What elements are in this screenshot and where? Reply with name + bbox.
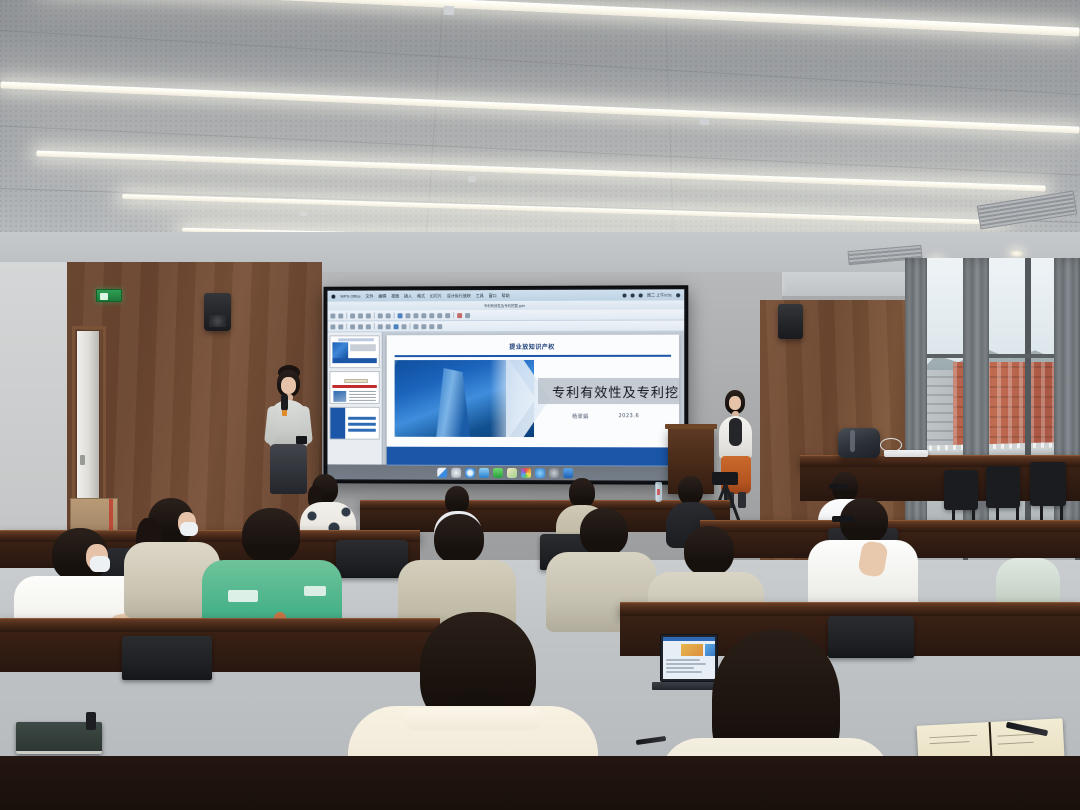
- stacking-chair[interactable]: [1030, 462, 1066, 506]
- shape-fill-icon[interactable]: [398, 313, 403, 318]
- highlight-icon[interactable]: [402, 324, 407, 329]
- attendee-row2-white-tee: [808, 498, 918, 610]
- control-center-icon[interactable]: [676, 293, 680, 297]
- safari-icon[interactable]: [465, 467, 475, 477]
- slide-main-title: 专利有效性及专利挖掘: [538, 378, 679, 404]
- paste-icon[interactable]: [366, 313, 371, 318]
- conference-room-photo: WPS Office 文件 编辑 视图 插入 格式 幻灯片 设计执行放映 工具 …: [0, 0, 1080, 810]
- door-handle[interactable]: [80, 455, 85, 465]
- mail-icon[interactable]: [479, 467, 489, 477]
- macos-dock[interactable]: [327, 464, 684, 480]
- wall-speaker-right: [778, 304, 803, 339]
- exit-sign: [96, 289, 122, 302]
- wps-icon[interactable]: [563, 468, 573, 478]
- menu-edit[interactable]: 编辑: [378, 293, 386, 299]
- stacking-chair[interactable]: [944, 470, 978, 510]
- menu-format[interactable]: 格式: [417, 293, 425, 299]
- app-name: WPS Office: [340, 294, 360, 299]
- size-icon[interactable]: [386, 313, 391, 318]
- wall-speaker-left: [204, 293, 231, 331]
- launchpad-icon[interactable]: [451, 467, 461, 477]
- eyeglasses: [832, 516, 854, 522]
- image-icon[interactable]: [445, 313, 450, 318]
- microphone-band: [282, 410, 287, 416]
- slide-date: 2023.6: [618, 413, 639, 419]
- redo-icon[interactable]: [338, 313, 343, 318]
- window-curtain: [963, 258, 989, 558]
- table-icon[interactable]: [429, 313, 434, 318]
- bullet-list-icon[interactable]: [378, 324, 383, 329]
- play-icon[interactable]: [465, 313, 470, 318]
- menu-tools[interactable]: 工具: [476, 293, 484, 299]
- recessed-downlight: [1010, 250, 1023, 257]
- apple-icon[interactable]: [331, 294, 335, 298]
- text-color-icon[interactable]: [394, 324, 399, 329]
- blouse-ruffle-collar: [404, 708, 544, 730]
- slide-thumbnail-2[interactable]: [329, 371, 379, 404]
- layer-icon[interactable]: [421, 324, 426, 329]
- arrow-icon[interactable]: [421, 313, 426, 318]
- eyeglasses: [829, 484, 847, 489]
- microphone[interactable]: [281, 394, 288, 411]
- tshirt-graphic: [304, 586, 326, 596]
- wifi-icon[interactable]: [623, 293, 627, 297]
- document-title: 专利有效性及专利挖掘.pptx: [484, 303, 525, 308]
- record-icon[interactable]: [457, 313, 462, 318]
- projection-screen: WPS Office 文件 编辑 视图 插入 格式 幻灯片 设计执行放映 工具 …: [324, 285, 689, 485]
- menu-file[interactable]: 文件: [366, 293, 374, 299]
- menubar-clock: 周二 上午9:51: [647, 292, 672, 298]
- tshirt-graphic: [228, 590, 258, 602]
- transition-icon[interactable]: [437, 324, 442, 329]
- menu-slideshow[interactable]: 设计执行放映: [447, 293, 471, 299]
- slide-thumbnail-1[interactable]: [329, 335, 379, 368]
- bold-icon[interactable]: [350, 324, 355, 329]
- chair-row3-a[interactable]: [122, 636, 212, 680]
- cut-icon[interactable]: [350, 313, 355, 318]
- wps-editor-body: 提业放知识产权 专利有效性及专利挖掘 杨翠娟 2023.6: [327, 332, 684, 466]
- face-mask: [180, 522, 198, 536]
- align-center-icon[interactable]: [338, 324, 343, 329]
- copy-icon[interactable]: [358, 313, 363, 318]
- photos-icon[interactable]: [520, 468, 530, 478]
- slide-header-text: 提业放知识产权: [387, 342, 679, 351]
- slide-divider-rule: [395, 355, 671, 357]
- cable-loop: [880, 438, 902, 452]
- finder-icon[interactable]: [437, 467, 447, 477]
- rect-icon[interactable]: [413, 313, 418, 318]
- maps-icon[interactable]: [506, 468, 516, 478]
- align-left-icon[interactable]: [330, 324, 335, 329]
- slide-footer-bar: [387, 447, 679, 467]
- current-slide[interactable]: 提业放知识产权 专利有效性及专利挖掘 杨翠娟 2023.6: [387, 335, 679, 467]
- stacking-chair[interactable]: [986, 466, 1020, 508]
- desk-row-3-right: [620, 602, 1080, 616]
- wps-toolbar-row2[interactable]: [327, 321, 684, 333]
- face-mask: [90, 556, 110, 572]
- animation-icon[interactable]: [429, 324, 434, 329]
- window-curtain: [1054, 258, 1080, 558]
- menu-view[interactable]: 视图: [391, 293, 399, 299]
- oval-icon[interactable]: [405, 313, 410, 318]
- underline-icon[interactable]: [366, 324, 371, 329]
- water-bottle: [655, 482, 662, 502]
- undo-icon[interactable]: [330, 313, 335, 318]
- font-icon[interactable]: [378, 313, 383, 318]
- slide-thumbnail-3[interactable]: [329, 407, 379, 440]
- menu-insert[interactable]: 插入: [404, 293, 412, 299]
- presenter-clicker[interactable]: [296, 436, 307, 444]
- italic-icon[interactable]: [358, 324, 363, 329]
- pen[interactable]: [86, 712, 96, 730]
- menu-window[interactable]: 窗口: [489, 293, 497, 299]
- slide-thumbnail-panel[interactable]: [327, 332, 382, 464]
- battery-icon[interactable]: [631, 293, 635, 297]
- foreground-desk-edge: [0, 756, 1080, 810]
- messages-icon[interactable]: [493, 467, 503, 477]
- slide-author: 杨翠娟: [572, 413, 589, 420]
- backpack: [838, 428, 880, 458]
- menu-slide[interactable]: 幻灯片: [430, 293, 442, 299]
- group-icon[interactable]: [413, 324, 418, 329]
- settings-icon[interactable]: [549, 468, 559, 478]
- appstore-icon[interactable]: [535, 468, 545, 478]
- search-icon[interactable]: [639, 293, 643, 297]
- menu-help[interactable]: 帮助: [502, 292, 510, 298]
- slide-canvas-area[interactable]: 提业放知识产权 专利有效性及专利挖掘 杨翠娟 2023.6: [383, 332, 685, 466]
- chart-icon[interactable]: [437, 313, 442, 318]
- number-list-icon[interactable]: [386, 324, 391, 329]
